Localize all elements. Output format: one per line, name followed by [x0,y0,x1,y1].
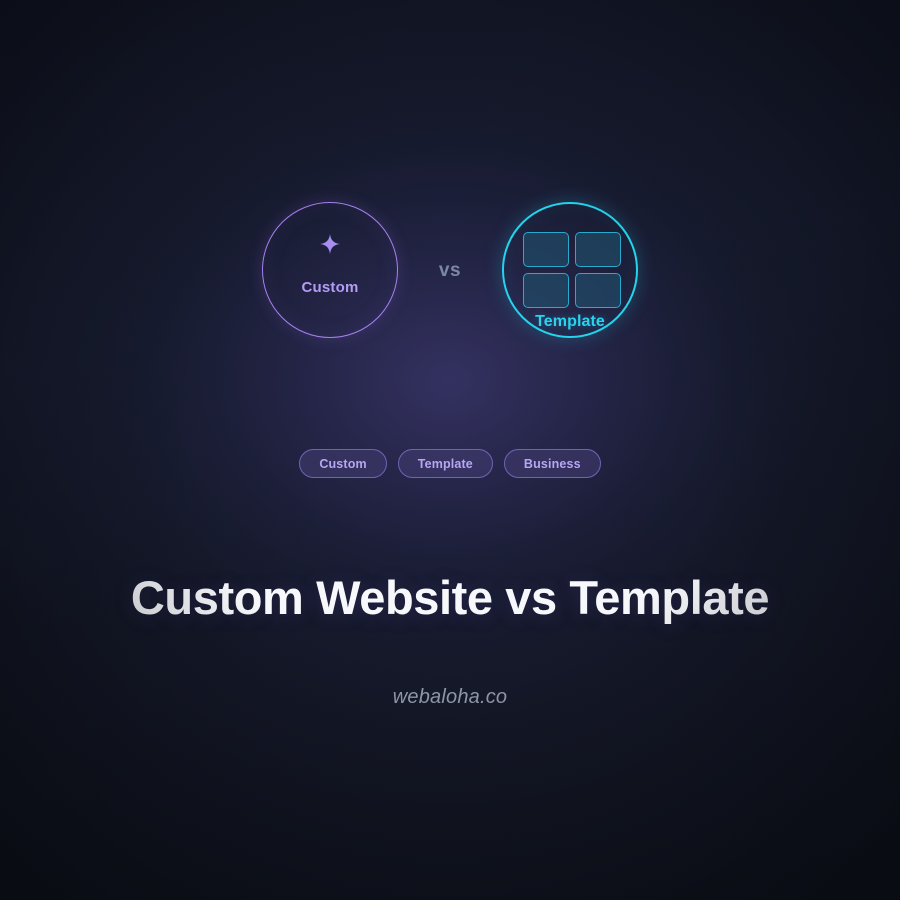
vs-label: vs [398,260,502,282]
comparison-row: Custom vs Template [0,202,900,338]
grid-cell [575,273,621,308]
grid-icon [523,232,621,308]
custom-badge-label: Custom [263,279,397,296]
grid-cell [523,273,569,308]
tag-row: Custom Template Business [0,449,900,478]
tag-pill-label: Custom [319,457,366,471]
tag-pill-label: Business [524,457,581,471]
tag-pill-business[interactable]: Business [504,449,601,478]
grid-cell [575,232,621,267]
tag-pill-label: Template [418,457,473,471]
page-title: Custom Website vs Template [0,570,900,625]
site-credit: webaloha.co [0,686,900,709]
template-badge-label: Template [504,313,636,331]
tag-pill-template[interactable]: Template [398,449,493,478]
sparkle-icon [319,233,341,255]
custom-badge: Custom [262,202,398,338]
grid-cell [523,232,569,267]
poster-canvas: Custom vs Template Custom Template Busin… [0,0,900,900]
tag-pill-custom[interactable]: Custom [299,449,386,478]
template-badge: Template [502,202,638,338]
